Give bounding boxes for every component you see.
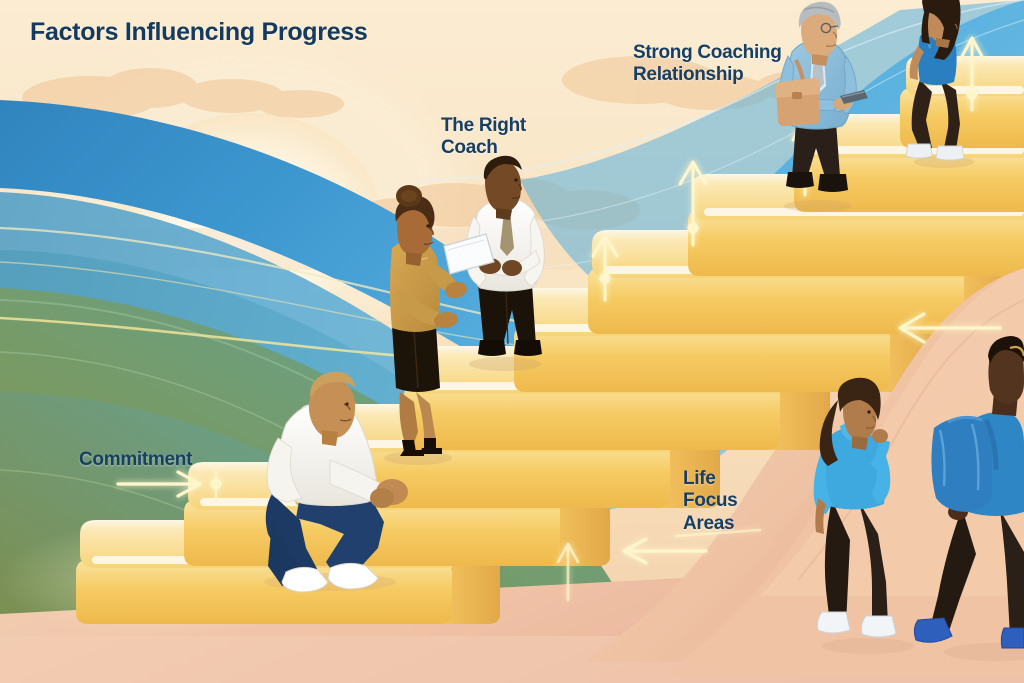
figure-businessman	[776, 2, 868, 212]
figure-coach-woman	[384, 185, 468, 465]
figure-seated-man	[264, 372, 408, 592]
illustration-canvas: Factors Influencing Progress The Right C…	[0, 0, 1024, 683]
figure-backpack-walker	[914, 336, 1024, 661]
figures-layer	[0, 0, 1024, 683]
figure-walking-woman	[814, 378, 914, 654]
figure-climbing-woman	[906, 0, 974, 168]
figure-coach-man	[444, 156, 544, 371]
